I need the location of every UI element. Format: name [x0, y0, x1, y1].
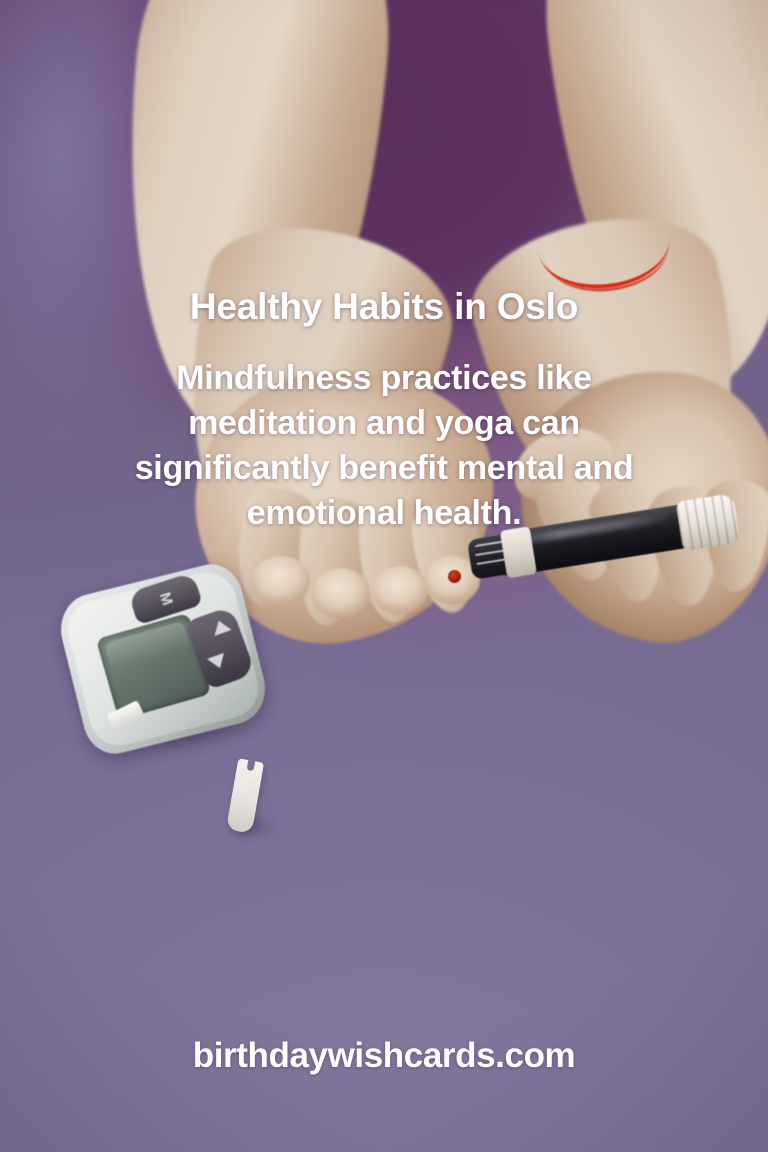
social-card: M Healthy Habits in Oslo Mindfulness pra… [0, 0, 768, 1152]
page-title: Healthy Habits in Oslo [0, 286, 768, 328]
text-overlay: Healthy Habits in Oslo Mindfulness pract… [0, 0, 768, 1152]
site-url: birthdaywishcards.com [0, 1036, 768, 1076]
body-text: Mindfulness practices like meditation an… [104, 356, 664, 536]
